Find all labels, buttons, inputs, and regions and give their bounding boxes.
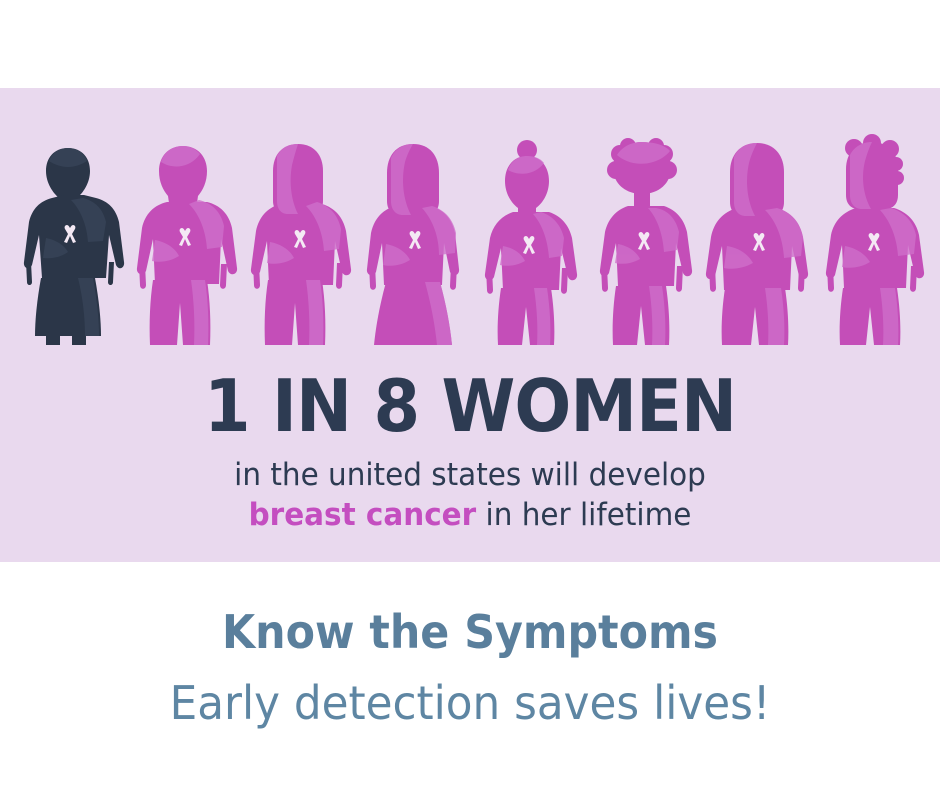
breast-cancer-highlight: breast cancer [249, 497, 477, 533]
headline-subline-2-rest: in her lifetime [476, 497, 691, 533]
statistic-text-block: 1 IN 8 WOMEN in the united states will d… [0, 368, 940, 534]
footer-text-block: Know the Symptoms Early detection saves … [0, 604, 940, 732]
footer-title: Know the Symptoms [33, 604, 907, 660]
figure-woman-7 [705, 140, 809, 345]
figure-woman-4 [361, 140, 465, 345]
figure-woman-8 [820, 140, 924, 345]
headline-subline-1: in the united states will develop [24, 456, 917, 494]
headline-statistic: 1 IN 8 WOMEN [33, 368, 907, 444]
footer-subtitle: Early detection saves lives! [24, 674, 917, 732]
figure-woman-6 [590, 140, 694, 345]
figure-woman-2 [131, 140, 235, 345]
figure-woman-1-highlighted [16, 140, 120, 345]
headline-subline-2: breast cancer in her lifetime [24, 496, 917, 534]
figure-woman-5 [475, 140, 579, 345]
women-figure-row [0, 140, 940, 345]
breast-cancer-awareness-poster: 1 IN 8 WOMEN in the united states will d… [0, 0, 940, 788]
figure-woman-3 [246, 140, 350, 345]
